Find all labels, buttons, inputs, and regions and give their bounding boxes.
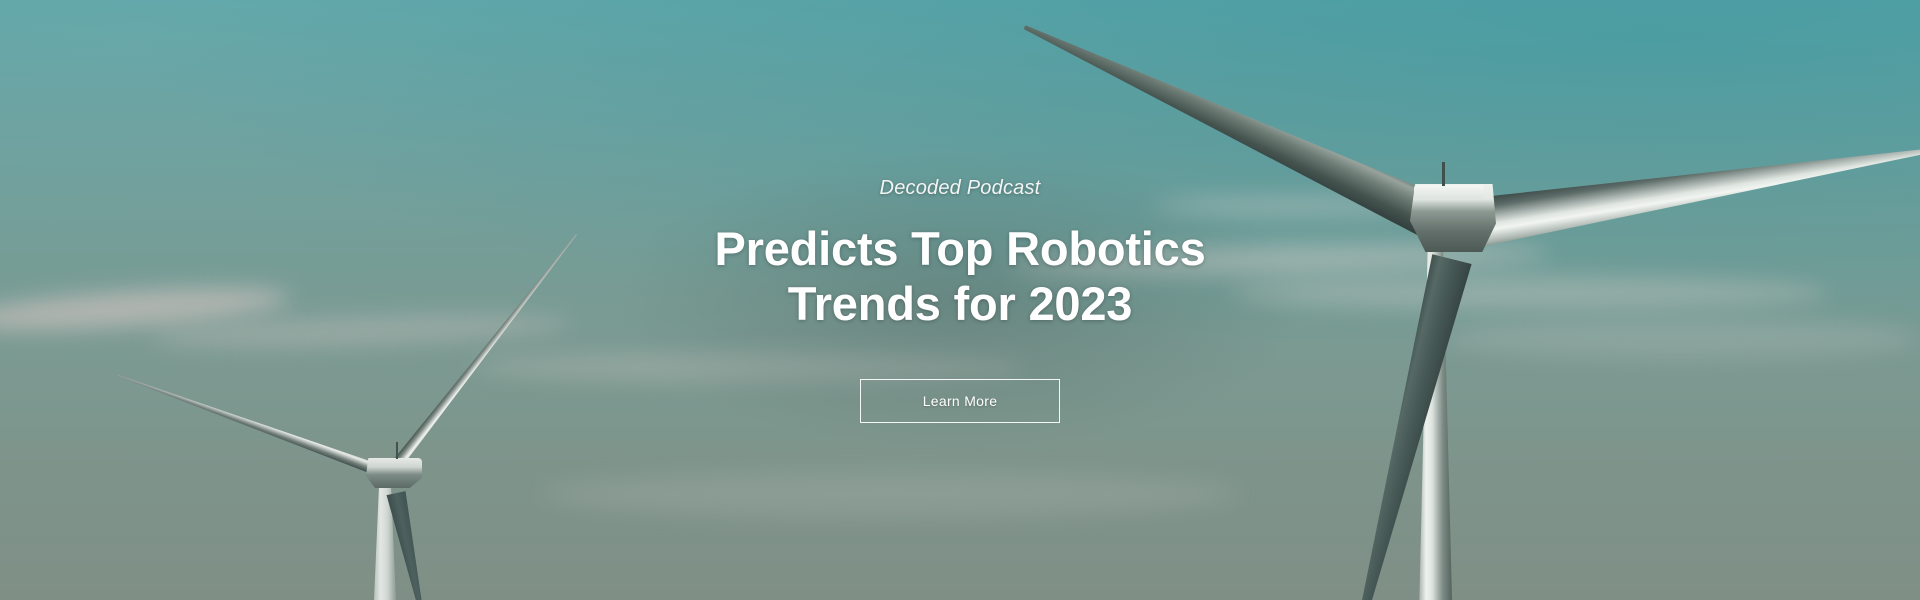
hero-content: Decoded Podcast Predicts Top Robotics Tr… [0, 0, 1920, 600]
headline-line-1: Predicts Top Robotics [714, 222, 1205, 275]
hero-banner: Decoded Podcast Predicts Top Robotics Tr… [0, 0, 1920, 600]
hero-eyebrow: Decoded Podcast [880, 177, 1041, 200]
page-title: Predicts Top Robotics Trends for 2023 [714, 222, 1205, 332]
learn-more-button[interactable]: Learn More [860, 379, 1060, 423]
headline-line-2: Trends for 2023 [788, 277, 1132, 330]
